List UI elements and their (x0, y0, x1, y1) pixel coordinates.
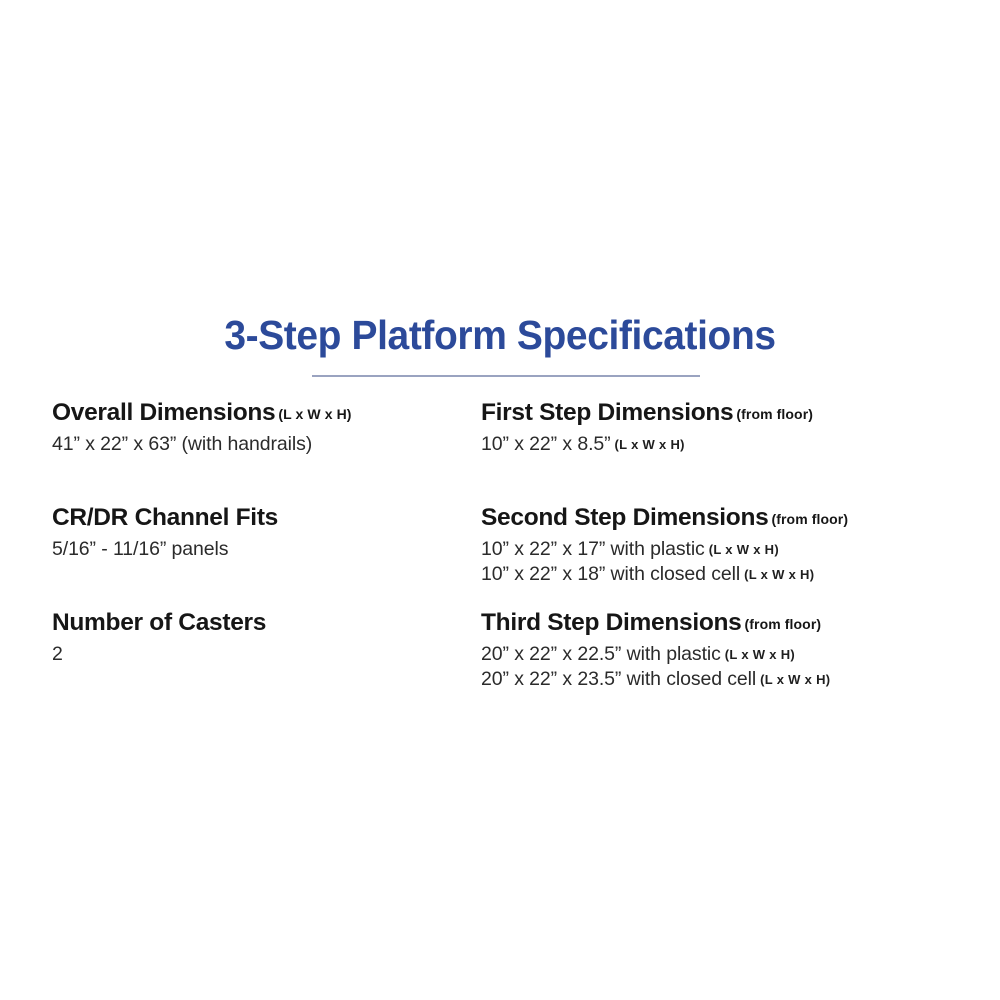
spec-block-second-step-dimensions: Second Step Dimensions(from floor) 10” x… (481, 503, 952, 608)
spec-value: 10” x 22” x 18” with closed cell(L x W x… (481, 562, 952, 587)
spec-block-channel-fits: CR/DR Channel Fits 5/16” - 11/16” panels (52, 503, 481, 608)
spec-heading-label: CR/DR Channel Fits (52, 504, 278, 531)
spec-value-qualifier: (L x W x H) (740, 567, 814, 582)
page-title: 3-Step Platform Specifications (25, 312, 975, 358)
spec-value: 5/16” - 11/16” panels (52, 537, 481, 562)
spec-value: 41” x 22” x 63” (with handrails) (52, 432, 481, 457)
spec-value-text: 10” x 22” x 8.5” (481, 433, 611, 455)
spec-heading: Overall Dimensions(L x W x H) (52, 398, 481, 429)
spec-block-number-of-casters: Number of Casters 2 (52, 608, 481, 713)
spec-value-qualifier (228, 542, 232, 557)
spec-value: 20” x 22” x 22.5” with plastic(L x W x H… (481, 642, 952, 667)
specification-columns: Overall Dimensions(L x W x H) 41” x 22” … (52, 398, 952, 713)
spec-value-qualifier (63, 647, 67, 662)
spec-heading-label: First Step Dimensions (481, 399, 733, 426)
spec-heading-label: Overall Dimensions (52, 399, 275, 426)
spec-block-first-step-dimensions: First Step Dimensions(from floor) 10” x … (481, 398, 952, 503)
spec-heading-label: Number of Casters (52, 609, 266, 636)
spec-heading-qualifier: (from floor) (733, 406, 813, 422)
spec-heading: CR/DR Channel Fits (52, 503, 481, 534)
title-divider (312, 375, 700, 377)
spec-heading: Number of Casters (52, 608, 481, 639)
spec-heading: Third Step Dimensions(from floor) (481, 608, 952, 639)
spec-value-text: 20” x 22” x 23.5” with closed cell (481, 668, 756, 690)
spec-value-text: 41” x 22” x 63” (with handrails) (52, 433, 312, 455)
spec-heading-qualifier: (from floor) (768, 511, 848, 527)
spec-value-qualifier (312, 437, 316, 452)
spec-heading-qualifier (278, 511, 281, 527)
spec-heading-qualifier: (from floor) (742, 616, 822, 632)
spec-heading: Second Step Dimensions(from floor) (481, 503, 952, 534)
spec-value-text: 2 (52, 643, 63, 665)
spec-column-left: Overall Dimensions(L x W x H) 41” x 22” … (52, 398, 481, 713)
spec-block-third-step-dimensions: Third Step Dimensions(from floor) 20” x … (481, 608, 952, 713)
spec-value-text: 5/16” - 11/16” panels (52, 538, 228, 560)
spec-heading-qualifier (266, 616, 269, 632)
spec-heading-label: Second Step Dimensions (481, 504, 768, 531)
spec-value-qualifier: (L x W x H) (756, 672, 830, 687)
spec-value-text: 10” x 22” x 17” with plastic (481, 538, 705, 560)
spec-value: 10” x 22” x 17” with plastic(L x W x H) (481, 537, 952, 562)
spec-value: 2 (52, 642, 481, 667)
spec-value-text: 10” x 22” x 18” with closed cell (481, 563, 740, 585)
specification-sheet: 3-Step Platform Specifications Overall D… (0, 0, 1000, 1000)
spec-value-qualifier: (L x W x H) (705, 542, 779, 557)
spec-heading-label: Third Step Dimensions (481, 609, 742, 636)
spec-value-qualifier: (L x W x H) (611, 437, 685, 452)
spec-heading-qualifier: (L x W x H) (275, 406, 351, 422)
spec-heading: First Step Dimensions(from floor) (481, 398, 952, 429)
spec-block-overall-dimensions: Overall Dimensions(L x W x H) 41” x 22” … (52, 398, 481, 503)
spec-value: 10” x 22” x 8.5”(L x W x H) (481, 432, 952, 457)
spec-value-text: 20” x 22” x 22.5” with plastic (481, 643, 721, 665)
spec-value: 20” x 22” x 23.5” with closed cell(L x W… (481, 667, 952, 692)
spec-value-qualifier: (L x W x H) (721, 647, 795, 662)
spec-column-right: First Step Dimensions(from floor) 10” x … (481, 398, 952, 713)
